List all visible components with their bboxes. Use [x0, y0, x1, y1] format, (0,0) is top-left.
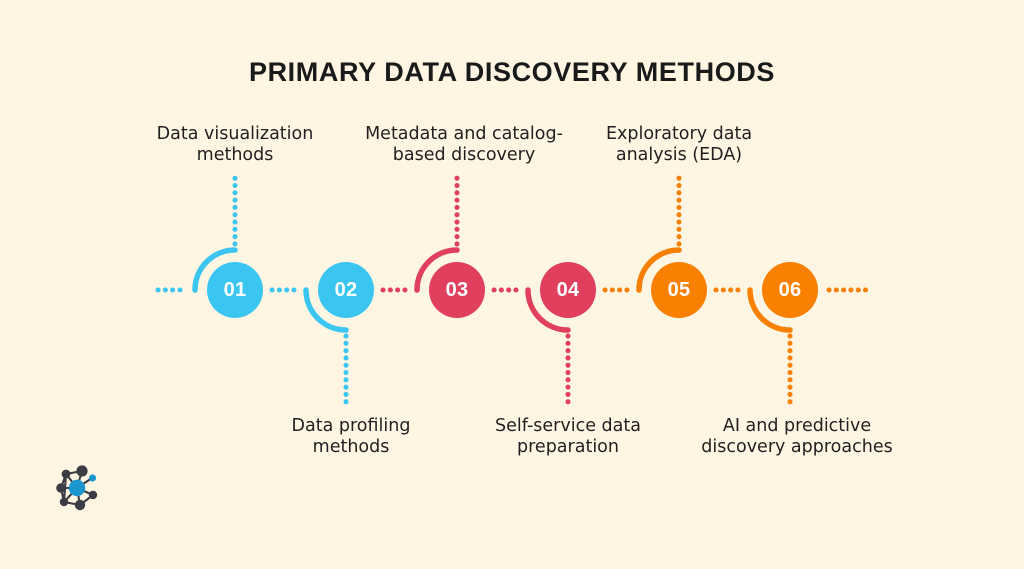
step-label-01-line1: Data visualization — [135, 124, 335, 145]
step-label-06-line2: discovery approaches — [697, 437, 897, 458]
step-label-01: Data visualization methods — [135, 124, 335, 166]
step-label-03: Metadata and catalog- based discovery — [364, 124, 564, 166]
step-node-06[interactable]: 06 — [762, 262, 818, 318]
step-number-05: 05 — [668, 279, 691, 302]
logo-accent-node — [89, 474, 96, 481]
step-label-04-line2: preparation — [468, 437, 668, 458]
step-number-04: 04 — [557, 279, 580, 302]
step-label-05: Exploratory data analysis (EDA) — [579, 124, 779, 166]
step-label-01-line2: methods — [135, 145, 335, 166]
step-node-05[interactable]: 05 — [651, 262, 707, 318]
logo-center-node — [69, 480, 85, 496]
step-node-04[interactable]: 04 — [540, 262, 596, 318]
step-label-05-line2: analysis (EDA) — [579, 145, 779, 166]
step-label-04-line1: Self-service data — [468, 416, 668, 437]
step-label-03-line2: based discovery — [364, 145, 564, 166]
network-graph-logo — [52, 462, 104, 514]
infographic-canvas: PRIMARY DATA DISCOVERY METHODS Data visu… — [0, 0, 1024, 569]
step-label-06-line1: AI and predictive — [697, 416, 897, 437]
step-label-04: Self-service data preparation — [468, 416, 668, 458]
page-title: PRIMARY DATA DISCOVERY METHODS — [0, 57, 1024, 88]
step-label-06: AI and predictive discovery approaches — [697, 416, 897, 458]
step-number-06: 06 — [779, 279, 802, 302]
step-node-03[interactable]: 03 — [429, 262, 485, 318]
step-label-02-line1: Data profiling — [251, 416, 451, 437]
network-graph-logo-icon — [52, 462, 104, 514]
step-label-02-line2: methods — [251, 437, 451, 458]
step-label-05-line1: Exploratory data — [579, 124, 779, 145]
step-node-02[interactable]: 02 — [318, 262, 374, 318]
step-node-01[interactable]: 01 — [207, 262, 263, 318]
step-number-02: 02 — [335, 279, 358, 302]
step-label-02: Data profiling methods — [251, 416, 451, 458]
step-label-03-line1: Metadata and catalog- — [364, 124, 564, 145]
step-number-03: 03 — [446, 279, 469, 302]
step-number-01: 01 — [224, 279, 247, 302]
